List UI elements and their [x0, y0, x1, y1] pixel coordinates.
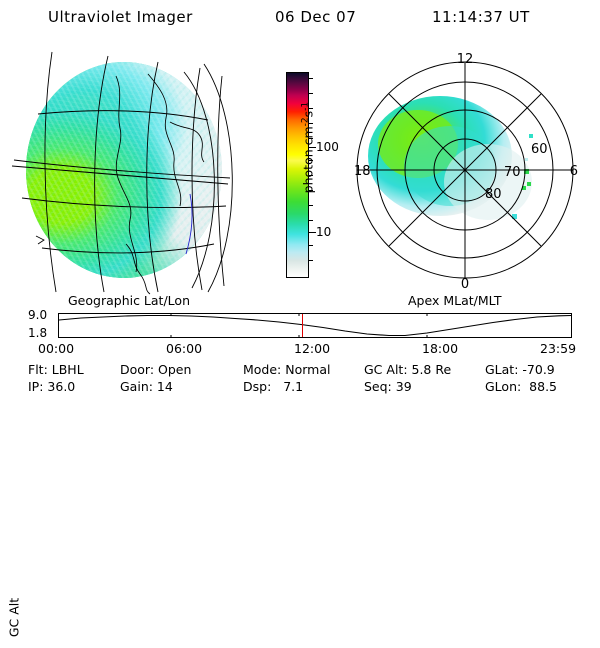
polar-mlat-mlt-plot: 12 18 6 0 60 70 80: [352, 48, 600, 296]
strip-x-tick-1200: 12:00: [294, 341, 330, 356]
mlt-label-0: 0: [461, 277, 469, 292]
auroral-oval-emission: [368, 96, 532, 226]
colorbar-unit-exponent-1: -2: [300, 117, 310, 126]
colorbar-label-10: 10: [316, 225, 331, 239]
status-bar: Flt: LBHL IP: 36.0 Door: Open Gain: 14 M…: [0, 362, 600, 400]
strip-x-tick-1800: 18:00: [422, 341, 458, 356]
status-ip: IP: 36.0: [28, 379, 75, 394]
strip-y-tick-low: 1.8: [28, 326, 47, 340]
strip-y-tick-high: 9.0: [28, 308, 47, 322]
colorbar-unit-seconds: s: [301, 111, 316, 118]
header-bar: Ultraviolet Imager 06 Dec 07 11:14:37 UT: [0, 4, 600, 30]
strip-y-axis-label: GC Alt: [7, 588, 22, 648]
orbit-altitude-curve: [59, 314, 571, 337]
strip-x-tick-0600: 06:00: [166, 341, 202, 356]
geographic-image-panel[interactable]: [8, 48, 248, 296]
status-seq: Seq: 39: [364, 379, 412, 394]
mlat-label-70: 70: [504, 165, 521, 180]
observation-time: 11:14:37 UT: [432, 8, 530, 26]
status-filter: Flt: LBHL: [28, 362, 84, 377]
mlat-label-60: 60: [531, 142, 548, 157]
right-panel-caption: Apex MLat/MLT: [408, 293, 502, 308]
polar-plot-panel[interactable]: 12 18 6 0 60 70 80: [352, 48, 600, 296]
coastline: [36, 236, 44, 244]
colorbar-unit-exponent-2: -1: [300, 102, 310, 111]
current-time-marker: [302, 314, 303, 337]
orbit-altitude-strip[interactable]: GC Alt 9.0 1.8 00:00 06:00 12:00 18:00 2…: [0, 310, 600, 360]
limb-arc: [184, 72, 214, 288]
coastline: [116, 76, 137, 272]
instrument-title: Ultraviolet Imager: [48, 8, 193, 26]
observation-date: 06 Dec 07: [275, 8, 356, 26]
status-door: Door: Open: [120, 362, 191, 377]
parallel-line: [38, 111, 208, 120]
left-panel-caption: Geographic Lat/Lon: [68, 293, 190, 308]
strip-x-tick-0000: 00:00: [38, 341, 74, 356]
mlat-label-80: 80: [485, 187, 502, 202]
coastline: [126, 244, 150, 294]
status-mode: Mode: Normal: [243, 362, 330, 377]
geographic-grid-overlay: [8, 48, 248, 296]
status-gc-alt: GC Alt: 5.8 Re: [364, 362, 451, 377]
strip-x-tick-2359: 23:59: [540, 341, 576, 356]
colorbar-major-tick-10: [308, 232, 316, 233]
colorbar-axis-label: photon cm-2s-1: [300, 68, 315, 228]
strip-plot-frame: [58, 313, 572, 338]
status-gain: Gain: 14: [120, 379, 173, 394]
colorbar-tick: [308, 260, 313, 261]
colorbar-panel: 100 10 photon cm-2s-1: [252, 48, 348, 296]
colorbar-unit-photon: photon cm: [301, 126, 316, 193]
mlt-label-6: 6: [570, 164, 578, 179]
coastline: [170, 122, 204, 162]
status-glat: GLat: -70.9: [485, 362, 555, 377]
colorbar-label-100: 100: [316, 140, 339, 154]
mlt-label-18: 18: [354, 164, 371, 179]
status-dsp: Dsp: 7.1: [243, 379, 303, 394]
coastline: [148, 74, 181, 206]
colorbar-tick: [308, 245, 313, 246]
terminator-line: [186, 194, 192, 254]
mlt-label-12: 12: [457, 52, 474, 67]
status-glon: GLon: 88.5: [485, 379, 557, 394]
parallel-line: [22, 198, 226, 208]
meridian-line: [45, 52, 56, 292]
equator-line: [12, 166, 228, 184]
